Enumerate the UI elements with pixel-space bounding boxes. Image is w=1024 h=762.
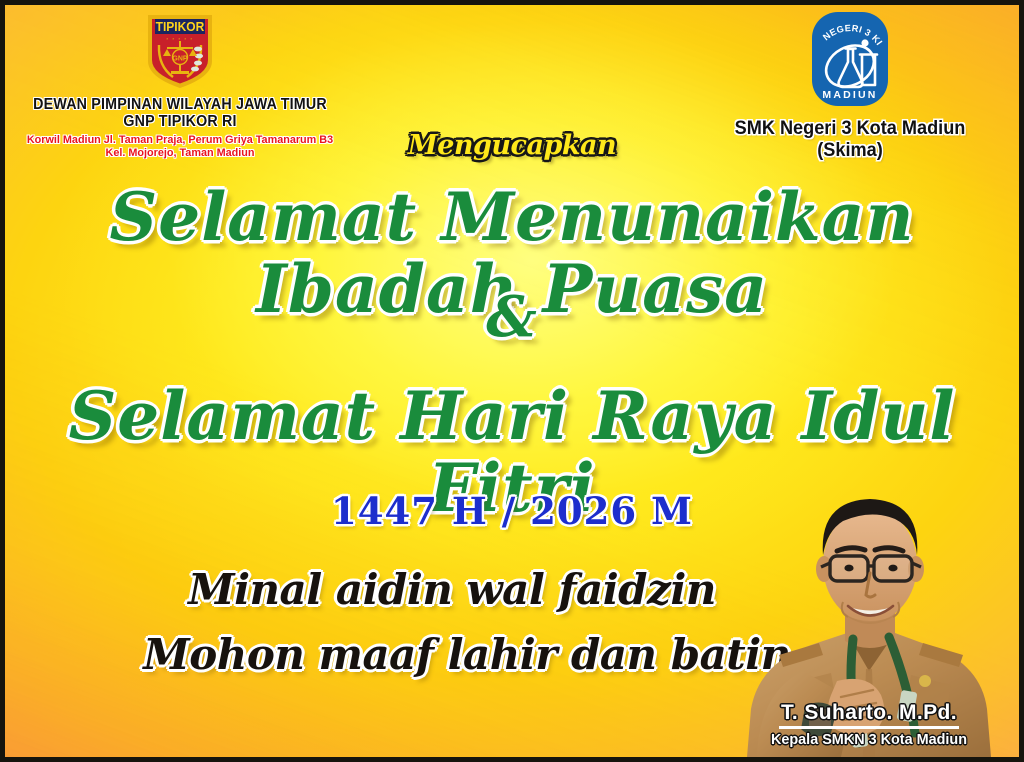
svg-text:TIPIKOR: TIPIKOR: [156, 20, 205, 34]
greeting-ampersand: &: [5, 287, 1019, 347]
person-name: T. Suharto. M.Pd.: [779, 701, 959, 729]
greeting-banner: TIPIKOR GNP * * * * *: [0, 0, 1024, 762]
svg-text:* * * * *: * * * * *: [166, 37, 193, 42]
skima-chemistry-logo: SMK NEGERI 3 KIMIA MADIUN: [807, 9, 893, 109]
svg-text:GNP: GNP: [172, 56, 188, 63]
person-role: Kepala SMKN 3 Kota Madiun: [735, 731, 1004, 749]
org-name-line-1: DEWAN PIMPINAN WILAYAH JAWA TIMUR: [19, 96, 341, 113]
org-name-line-2: GNP TIPIKOR RI: [19, 113, 341, 130]
nameplate: T. Suharto. M.Pd. Kepala SMKN 3 Kota Mad…: [729, 701, 1009, 749]
svg-text:MADIUN: MADIUN: [822, 89, 877, 101]
mengucapkan-label: Mengucapkan: [5, 130, 1019, 161]
tipikor-shield-logo: TIPIKOR GNP * * * * *: [143, 11, 217, 91]
